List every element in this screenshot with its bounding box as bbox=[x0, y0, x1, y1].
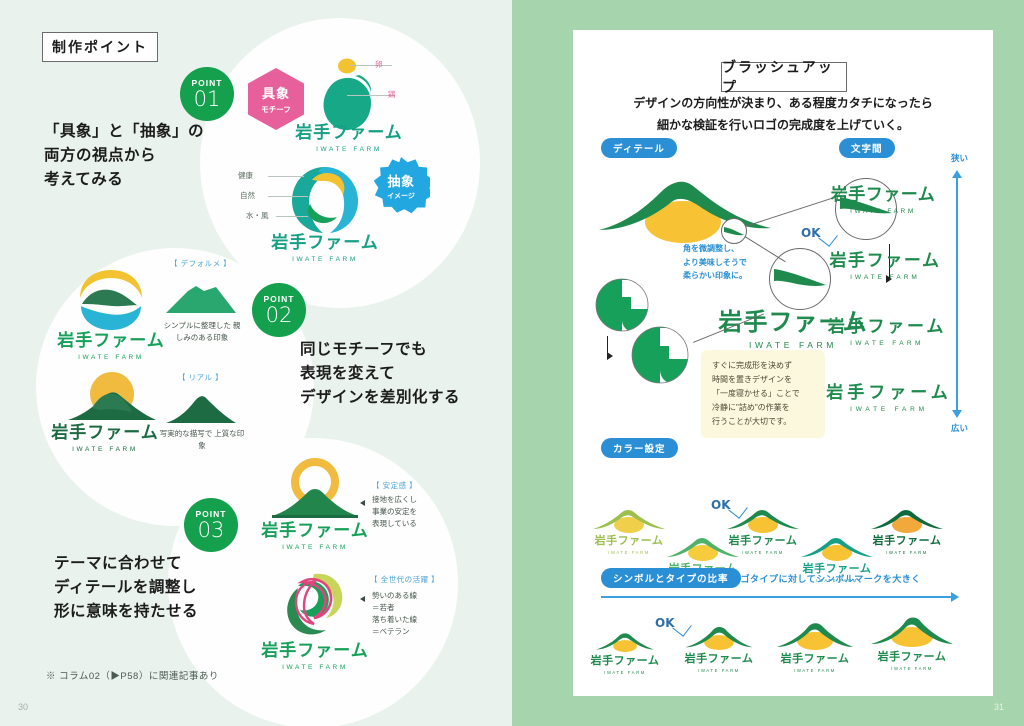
kerning-sample-4: 岩手ファーム IWATE FARM bbox=[823, 378, 955, 413]
detail-mountain-logo bbox=[595, 170, 785, 242]
ratio-sample-3: 岩手ファーム IWATE FARM bbox=[773, 620, 857, 673]
leader-line-health bbox=[268, 176, 304, 177]
logo-lockup-stable: 岩手ファーム IWATE FARM bbox=[256, 516, 374, 551]
logo-lockup-bird: 岩手ファーム IWATE FARM bbox=[290, 118, 408, 153]
logo-mark-generations bbox=[272, 568, 356, 640]
point-badge-number: 03 bbox=[198, 520, 225, 541]
kerning-arrow-up bbox=[952, 170, 962, 178]
abstract-logo-mark bbox=[288, 164, 362, 236]
label-generations: 【 全世代の活躍 】 bbox=[370, 574, 439, 585]
logo-jp-text: 岩手ファーム bbox=[266, 228, 384, 253]
book-spread: 制作ポイント POINT 01 「具象」と「抽象」の 両方の視点から 考えてみる… bbox=[0, 0, 1024, 726]
logo-jp-text: 岩手ファーム bbox=[823, 180, 943, 205]
logo-en-text: IWATE FARM bbox=[591, 550, 667, 555]
kerning-sample-3: 岩手ファーム IWATE FARM bbox=[823, 312, 951, 347]
leader-line-water-wind bbox=[276, 216, 308, 217]
caption-realistic: 写実的な描写で 上質な印象 bbox=[158, 428, 246, 452]
kerning-sample-2: 岩手ファーム IWATE FARM bbox=[823, 246, 947, 281]
point-badge-01: POINT 01 bbox=[180, 67, 234, 121]
logo-lockup-realistic: 岩手ファーム IWATE FARM bbox=[46, 418, 164, 453]
color-sample-1: 岩手ファーム IWATE FARM bbox=[591, 508, 667, 555]
badge-concrete-sub: モチーフ bbox=[261, 104, 291, 115]
pointer-stability bbox=[360, 500, 365, 506]
point-01-headline: 「具象」と「抽象」の 両方の視点から 考えてみる bbox=[44, 120, 204, 192]
point-02-headline: 同じモチーフでも 表現を変えて デザインを差別化する bbox=[300, 338, 460, 410]
note-generations: 勢いのある線 ＝若者 落ち着いた線 ＝ベテラン bbox=[372, 590, 417, 638]
ratio-axis-line bbox=[601, 596, 953, 598]
pill-symbol-type-ratio: シンボルとタイプの比率 bbox=[601, 568, 741, 588]
kerning-sample-1: 岩手ファーム IWATE FARM bbox=[823, 180, 943, 215]
left-page: 制作ポイント POINT 01 「具象」と「抽象」の 両方の視点から 考えてみる… bbox=[0, 0, 512, 726]
kerning-axis-label-wide: 広い bbox=[951, 422, 968, 434]
annotation-egg: 卵 bbox=[375, 59, 383, 70]
pointer-generations bbox=[360, 596, 365, 602]
kerning-axis-label-narrow: 狭い bbox=[951, 152, 968, 164]
footnote-column-reference: ※ コラム02（▶P58）に関連記事あり bbox=[46, 668, 219, 682]
pill-detail: ディテール bbox=[601, 138, 677, 158]
color-sample-3: 岩手ファーム IWATE FARM bbox=[725, 508, 801, 555]
pill-color-settings: カラー設定 bbox=[601, 438, 678, 458]
logo-en-text: IWATE FARM bbox=[52, 354, 170, 361]
annotation-nature: 自然 bbox=[240, 190, 255, 201]
badge-abstract-label: 抽象 bbox=[387, 171, 414, 190]
section-tag-brushup: ブラッシュアップ bbox=[721, 62, 847, 92]
logo-mark-stable bbox=[268, 456, 362, 522]
ratio-sample-1: 岩手ファーム IWATE FARM bbox=[587, 630, 663, 675]
logo-jp-text: 岩手ファーム bbox=[869, 532, 945, 548]
logo-en-text: IWATE FARM bbox=[256, 544, 374, 551]
point-badge-number: 02 bbox=[266, 305, 293, 326]
logo-jp-text: 岩手ファーム bbox=[823, 312, 951, 337]
logo-lockup-abstract: 岩手ファーム IWATE FARM bbox=[266, 228, 384, 263]
logo-jp-text: 岩手ファーム bbox=[290, 118, 408, 143]
badge-concrete-label: 具象 bbox=[262, 83, 290, 102]
color-sample-5: 岩手ファーム IWATE FARM bbox=[869, 508, 945, 555]
point-badge-02: POINT 02 bbox=[252, 283, 306, 337]
ratio-sample-4: 岩手ファーム IWATE FARM bbox=[867, 614, 957, 671]
page-number-left: 30 bbox=[18, 702, 28, 712]
logo-jp-text: 岩手ファーム bbox=[591, 532, 667, 548]
ratio-caption: ロゴタイプに対してシンボルマークを大きく bbox=[731, 572, 921, 585]
annotation-health: 健康 bbox=[238, 170, 253, 181]
label-stability: 【 安定感 】 bbox=[372, 480, 417, 491]
logo-jp-text: 岩手ファーム bbox=[256, 516, 374, 541]
logo-en-text: IWATE FARM bbox=[773, 668, 857, 673]
kerning-axis-line bbox=[956, 178, 958, 410]
annotation-chicken: 鶏 bbox=[388, 89, 396, 100]
note-box-sleep-on-it: すぐに完成形を決めず 時間を置きデザインを 「一度寝かせる」ことで 冷静に"詰め… bbox=[701, 350, 825, 438]
label-realistic: 【 リアル 】 bbox=[178, 372, 223, 383]
label-deformed: 【 デフォルメ 】 bbox=[170, 258, 231, 269]
ratio-sample-2: 岩手ファーム IWATE FARM bbox=[679, 624, 759, 673]
logo-mark-deformed bbox=[72, 268, 150, 332]
lead-paragraph: デザインの方向性が決まり、ある程度カタチになったら 細かな検証を行いロゴの完成度… bbox=[573, 92, 993, 136]
logo-en-text: IWATE FARM bbox=[46, 446, 164, 453]
logo-jp-text: 岩手ファーム bbox=[823, 378, 955, 403]
logo-lockup-generations: 岩手ファーム IWATE FARM bbox=[256, 636, 374, 671]
note-stability: 接地を広くし 事業の安定を 表現している bbox=[372, 494, 417, 530]
badge-abstract-sub: イメージ bbox=[387, 191, 415, 201]
callout-marker-small bbox=[721, 218, 747, 244]
logo-jp-text: 岩手ファーム bbox=[679, 650, 759, 666]
leader-line-nature bbox=[268, 196, 308, 197]
logo-en-text: IWATE FARM bbox=[679, 668, 759, 673]
leader-line-egg bbox=[350, 65, 392, 66]
logo-en-text: IWATE FARM bbox=[823, 406, 955, 413]
callout-kern-after bbox=[631, 326, 689, 384]
logo-en-text: IWATE FARM bbox=[256, 664, 374, 671]
logo-en-text: IWATE FARM bbox=[290, 146, 408, 153]
mountain-deformed-illustration bbox=[164, 282, 238, 314]
logo-en-text: IWATE FARM bbox=[587, 670, 663, 675]
logo-en-text: IWATE FARM bbox=[823, 340, 951, 347]
kerning-ok-check-icon bbox=[818, 227, 838, 247]
section-tag-production-points: 制作ポイント bbox=[42, 32, 158, 62]
logo-jp-text: 岩手ファーム bbox=[725, 532, 801, 548]
right-page-sheet: ブラッシュアップ デザインの方向性が決まり、ある程度カタチになったら 細かな検証… bbox=[573, 30, 993, 696]
logo-en-text: IWATE FARM bbox=[869, 550, 945, 555]
annotation-water-wind: 水・風 bbox=[246, 210, 269, 221]
point-03-headline: テーマに合わせて ディテールを調整し 形に意味を持たせる bbox=[54, 552, 198, 624]
ratio-arrow-right bbox=[951, 592, 959, 602]
logo-en-text: IWATE FARM bbox=[823, 208, 943, 215]
logo-jp-text: 岩手ファーム bbox=[867, 648, 957, 664]
point-badge-number: 01 bbox=[194, 89, 221, 110]
callout-kern-before bbox=[595, 278, 649, 332]
arrow-head-kern bbox=[607, 352, 613, 360]
logo-en-text: IWATE FARM bbox=[725, 550, 801, 555]
logo-jp-text: 岩手ファーム bbox=[52, 326, 170, 351]
logo-jp-text: 岩手ファーム bbox=[256, 636, 374, 661]
pill-kerning: 文字間 bbox=[839, 138, 895, 158]
logo-jp-text: 岩手ファーム bbox=[46, 418, 164, 443]
detail-annotation: 角を微調整し、 より美味しそうで 柔らかい印象に。 bbox=[683, 242, 747, 283]
logo-en-text: IWATE FARM bbox=[266, 256, 384, 263]
right-page: ブラッシュアップ デザインの方向性が決まり、ある程度カタチになったら 細かな検証… bbox=[512, 0, 1024, 726]
logo-jp-text: 岩手ファーム bbox=[773, 650, 857, 666]
logo-en-text: IWATE FARM bbox=[823, 274, 947, 281]
logo-lockup-deformed: 岩手ファーム IWATE FARM bbox=[52, 326, 170, 361]
logo-en-text: IWATE FARM bbox=[867, 666, 957, 671]
logo-jp-text: 岩手ファーム bbox=[587, 652, 663, 668]
logo-mark-realistic bbox=[66, 368, 158, 424]
page-number-right: 31 bbox=[994, 702, 1004, 712]
caption-deformed: シンプルに整理した 親しみのある印象 bbox=[160, 320, 244, 344]
logo-jp-text: 岩手ファーム bbox=[823, 246, 947, 271]
mountain-realistic-illustration bbox=[164, 392, 238, 424]
point-badge-03: POINT 03 bbox=[184, 498, 238, 552]
